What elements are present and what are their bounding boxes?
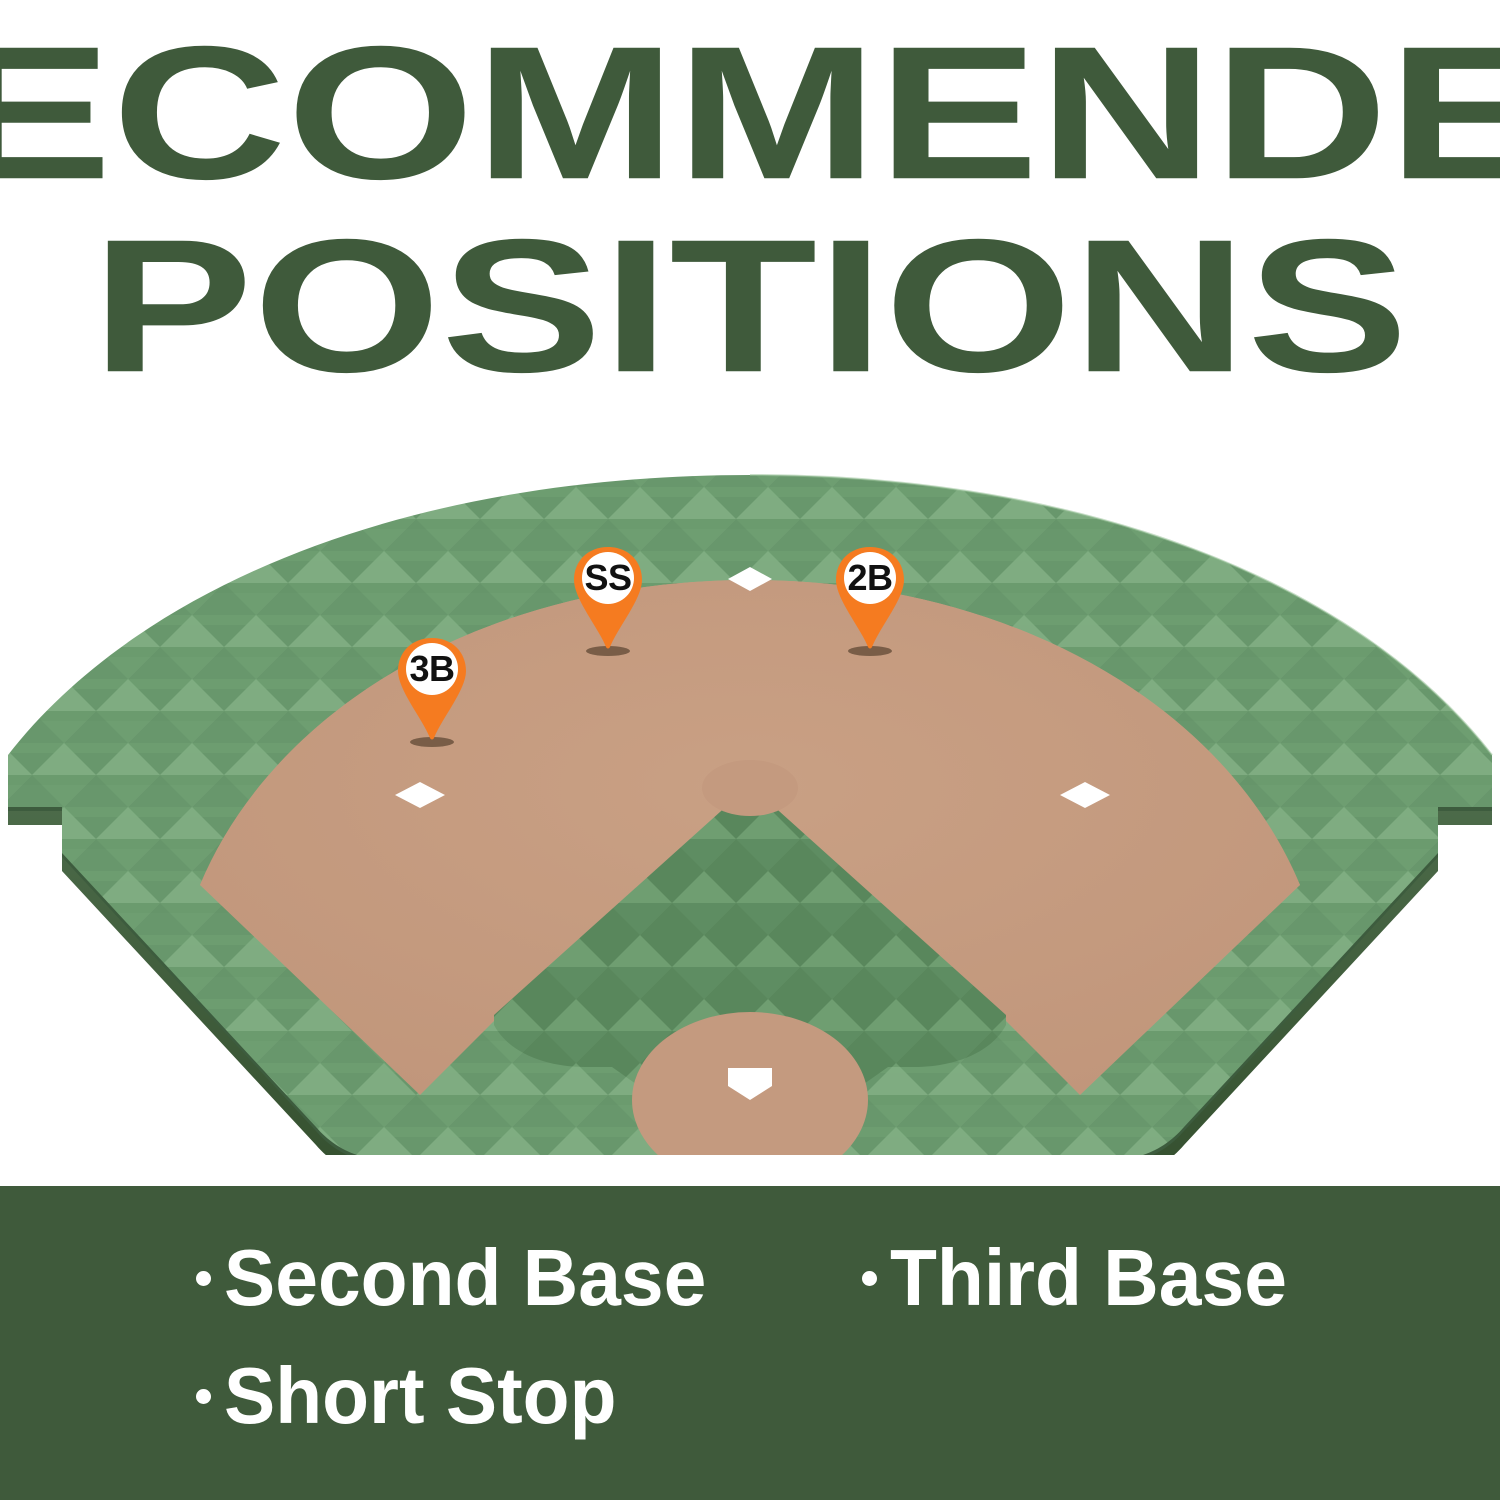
positions-list-left: Second Base Short Stop [196, 1238, 726, 1474]
list-item: Second Base [196, 1238, 726, 1318]
field-svg [0, 455, 1500, 1155]
list-item: Third Base [862, 1238, 1303, 1318]
map-pin-icon [390, 632, 474, 750]
list-item: Short Stop [196, 1356, 726, 1436]
infographic-page: Recommended Positions [0, 0, 1500, 1500]
position-label-short-stop: Short Stop [224, 1356, 616, 1436]
position-marker-short-stop[interactable]: SS [566, 541, 650, 659]
page-title: Recommended Positions [0, 28, 1500, 392]
bullet-dot-icon [196, 1271, 211, 1286]
bullet-dot-icon [862, 1271, 877, 1286]
pitchers-mound [702, 760, 798, 816]
title-line-2: Positions [0, 219, 1500, 394]
baseball-field-illustration [0, 455, 1500, 1155]
position-label-second-base: Second Base [224, 1238, 706, 1318]
map-pin-icon [566, 541, 650, 659]
title-line-1: Recommended [0, 26, 1500, 201]
bullet-dot-icon [196, 1389, 211, 1404]
position-label-third-base: Third Base [890, 1238, 1287, 1318]
banner-columns: Second Base Short Stop Third Base [0, 1186, 1500, 1500]
map-pin-icon [828, 541, 912, 659]
position-marker-second-base[interactable]: 2B [828, 541, 912, 659]
positions-list-right: Third Base [862, 1238, 1303, 1356]
recommended-positions-banner: Second Base Short Stop Third Base [0, 1186, 1500, 1500]
field-surface [0, 455, 1500, 1155]
position-marker-third-base[interactable]: 3B [390, 632, 474, 750]
